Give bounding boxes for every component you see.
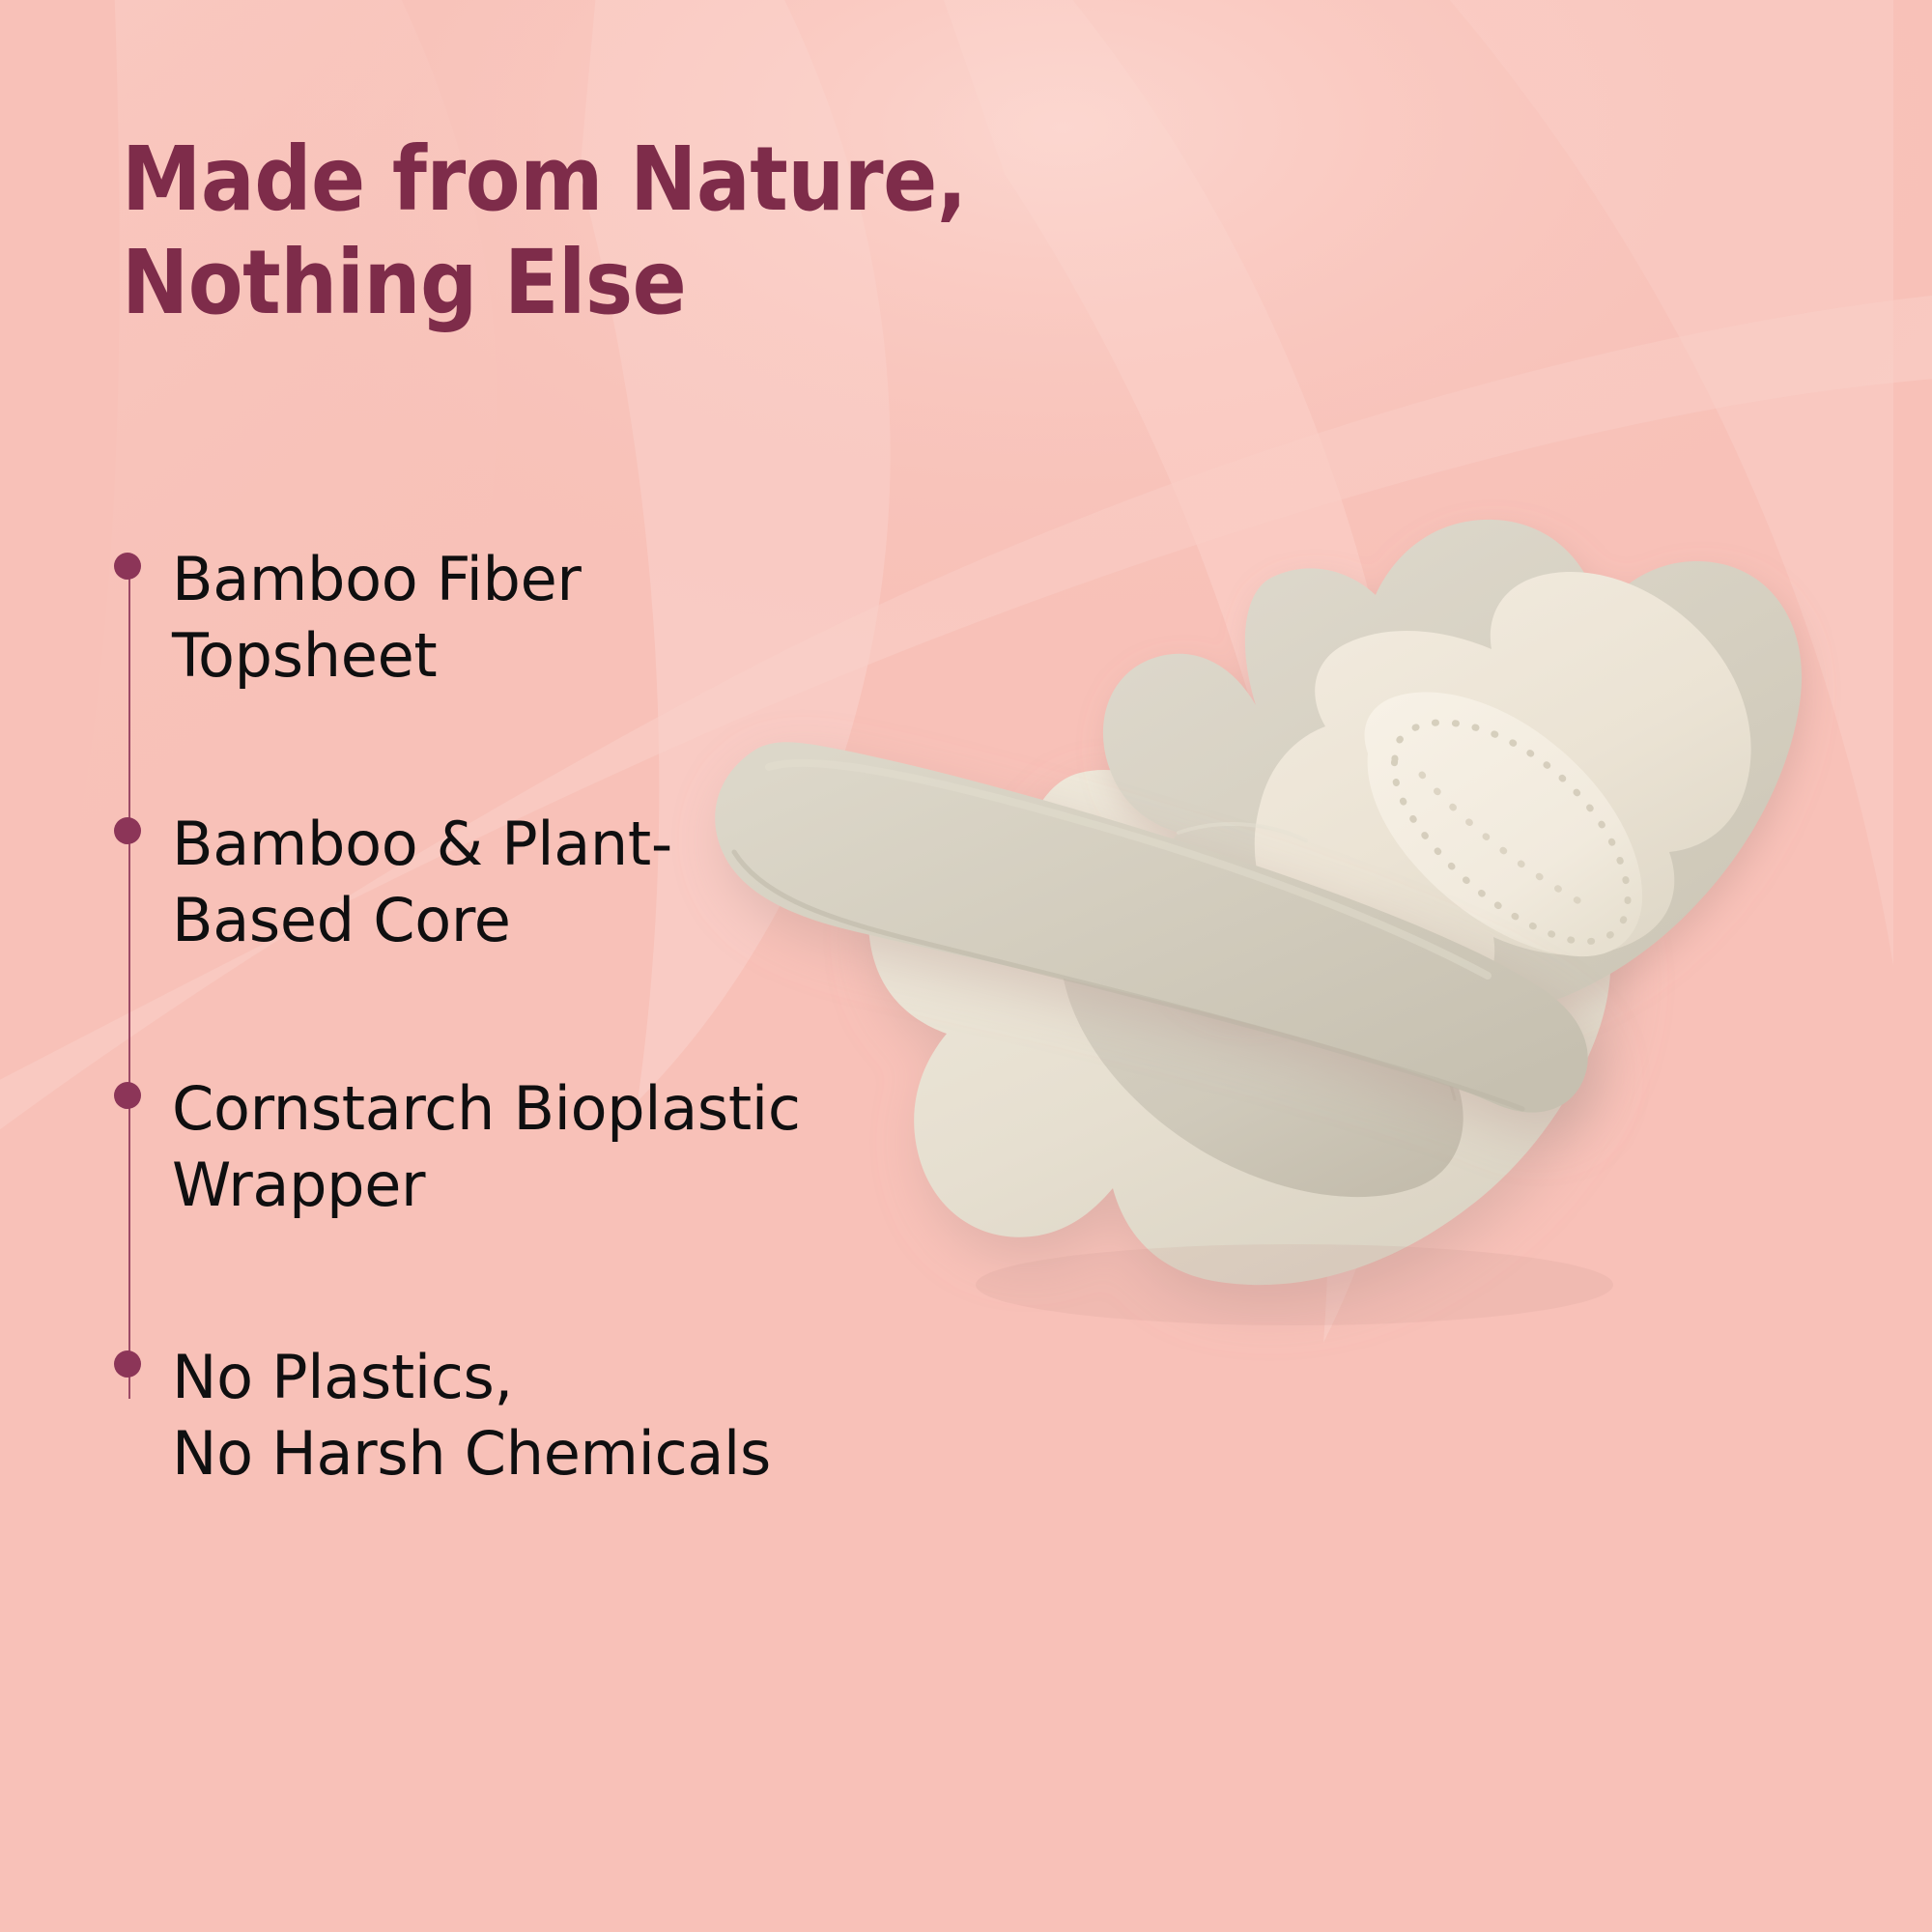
contact-shadow	[976, 1244, 1613, 1325]
feature-text: No Plastics, No Harsh Chemicals	[172, 1339, 771, 1492]
feature-text: Bamboo & Plant- Based Core	[172, 806, 672, 959]
sanitary-pads-graphic	[676, 415, 1932, 1343]
bullet-dot-icon	[114, 817, 141, 844]
feature-line-2: No Harsh Chemicals	[172, 1415, 771, 1492]
poster-canvas: Made from Nature, Nothing Else Bamboo Fi…	[0, 0, 1932, 1932]
feature-line-1: No Plastics,	[172, 1339, 771, 1415]
feature-line-1: Bamboo & Plant-	[172, 806, 672, 882]
page-title: Made from Nature, Nothing Else	[122, 128, 1329, 334]
feature-text: Bamboo Fiber Topsheet	[172, 541, 582, 695]
page-title-line-2: Nothing Else	[122, 232, 1329, 335]
page-title-line-1: Made from Nature,	[122, 128, 1329, 232]
bullet-dot-icon	[114, 553, 141, 580]
product-illustration	[676, 415, 1932, 1343]
bullet-dot-icon	[114, 1350, 141, 1378]
bullet-dot-icon	[114, 1082, 141, 1109]
list-item: No Plastics, No Harsh Chemicals	[114, 1339, 1041, 1492]
feature-line-2: Topsheet	[172, 617, 582, 694]
feature-line-2: Based Core	[172, 882, 672, 958]
feature-line-1: Bamboo Fiber	[172, 541, 582, 617]
